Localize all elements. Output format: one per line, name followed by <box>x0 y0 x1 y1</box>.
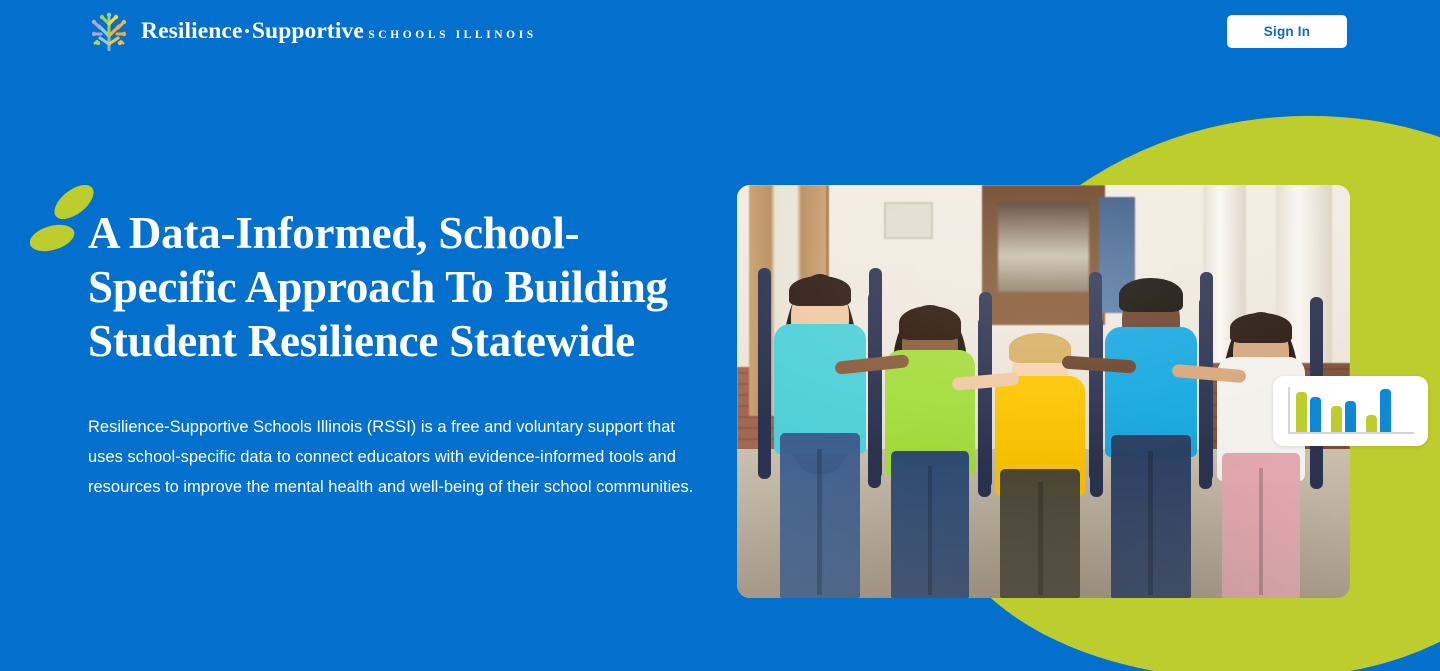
chart-bar-blue-2 <box>1345 401 1356 433</box>
far-door-window <box>998 202 1090 293</box>
backpack-strap <box>758 268 771 479</box>
page-title: A Data-Informed, School-Specific Approac… <box>88 206 708 368</box>
brand-title-part1: Resilience <box>141 18 243 44</box>
pants <box>1111 435 1191 598</box>
brand-logo-link[interactable]: Resilience•Supportive SCHOOLS ILLINOIS <box>88 10 537 52</box>
photo-scene <box>737 185 1350 598</box>
brand-subtitle: SCHOOLS ILLINOIS <box>368 29 537 41</box>
site-header: Resilience•Supportive SCHOOLS ILLINOIS S… <box>0 0 1440 62</box>
brand-wordmark: Resilience•Supportive SCHOOLS ILLINOIS <box>141 18 537 44</box>
hair-top <box>1119 278 1183 312</box>
pants <box>1000 469 1080 598</box>
backpack-strap <box>1199 297 1212 490</box>
child-figure <box>1093 272 1209 598</box>
child-figure <box>1203 297 1319 598</box>
backpack-strap <box>1089 272 1102 481</box>
rssi-tree-circle-logo-icon <box>88 10 130 52</box>
chart-bar-green-2 <box>1331 406 1342 432</box>
chart-bar-blue-3 <box>1380 389 1391 432</box>
pants <box>891 451 969 598</box>
backpack-strap <box>978 317 991 497</box>
sign-in-button[interactable]: Sign In <box>1227 15 1347 48</box>
hair-top <box>1230 313 1292 343</box>
wall-picture-frame <box>884 202 933 239</box>
hero-text-block: A Data-Informed, School-Specific Approac… <box>88 206 708 502</box>
chart-bar-green-1 <box>1296 392 1307 432</box>
hero-section: A Data-Informed, School-Specific Approac… <box>0 0 1440 671</box>
brand-separator-dot: • <box>243 24 252 40</box>
child-figure <box>762 268 878 598</box>
chart-bar-green-3 <box>1366 415 1377 432</box>
brand-title: Resilience•Supportive <box>141 18 364 44</box>
backpack-strap <box>868 292 881 488</box>
bar-chart-badge <box>1273 376 1428 446</box>
chart-bar-blue-1 <box>1310 397 1321 432</box>
hero-description: Resilience-Supportive Schools Illinois (… <box>88 412 708 502</box>
hero-artwork <box>700 0 1440 671</box>
bar-chart-plot <box>1288 387 1414 434</box>
pants <box>780 433 860 598</box>
hair-top <box>789 276 851 306</box>
hair-top <box>899 306 961 340</box>
brand-title-part2: Supportive <box>252 18 364 44</box>
child-figure <box>872 292 988 598</box>
hero-photo <box>737 185 1350 598</box>
pants <box>1222 453 1300 598</box>
